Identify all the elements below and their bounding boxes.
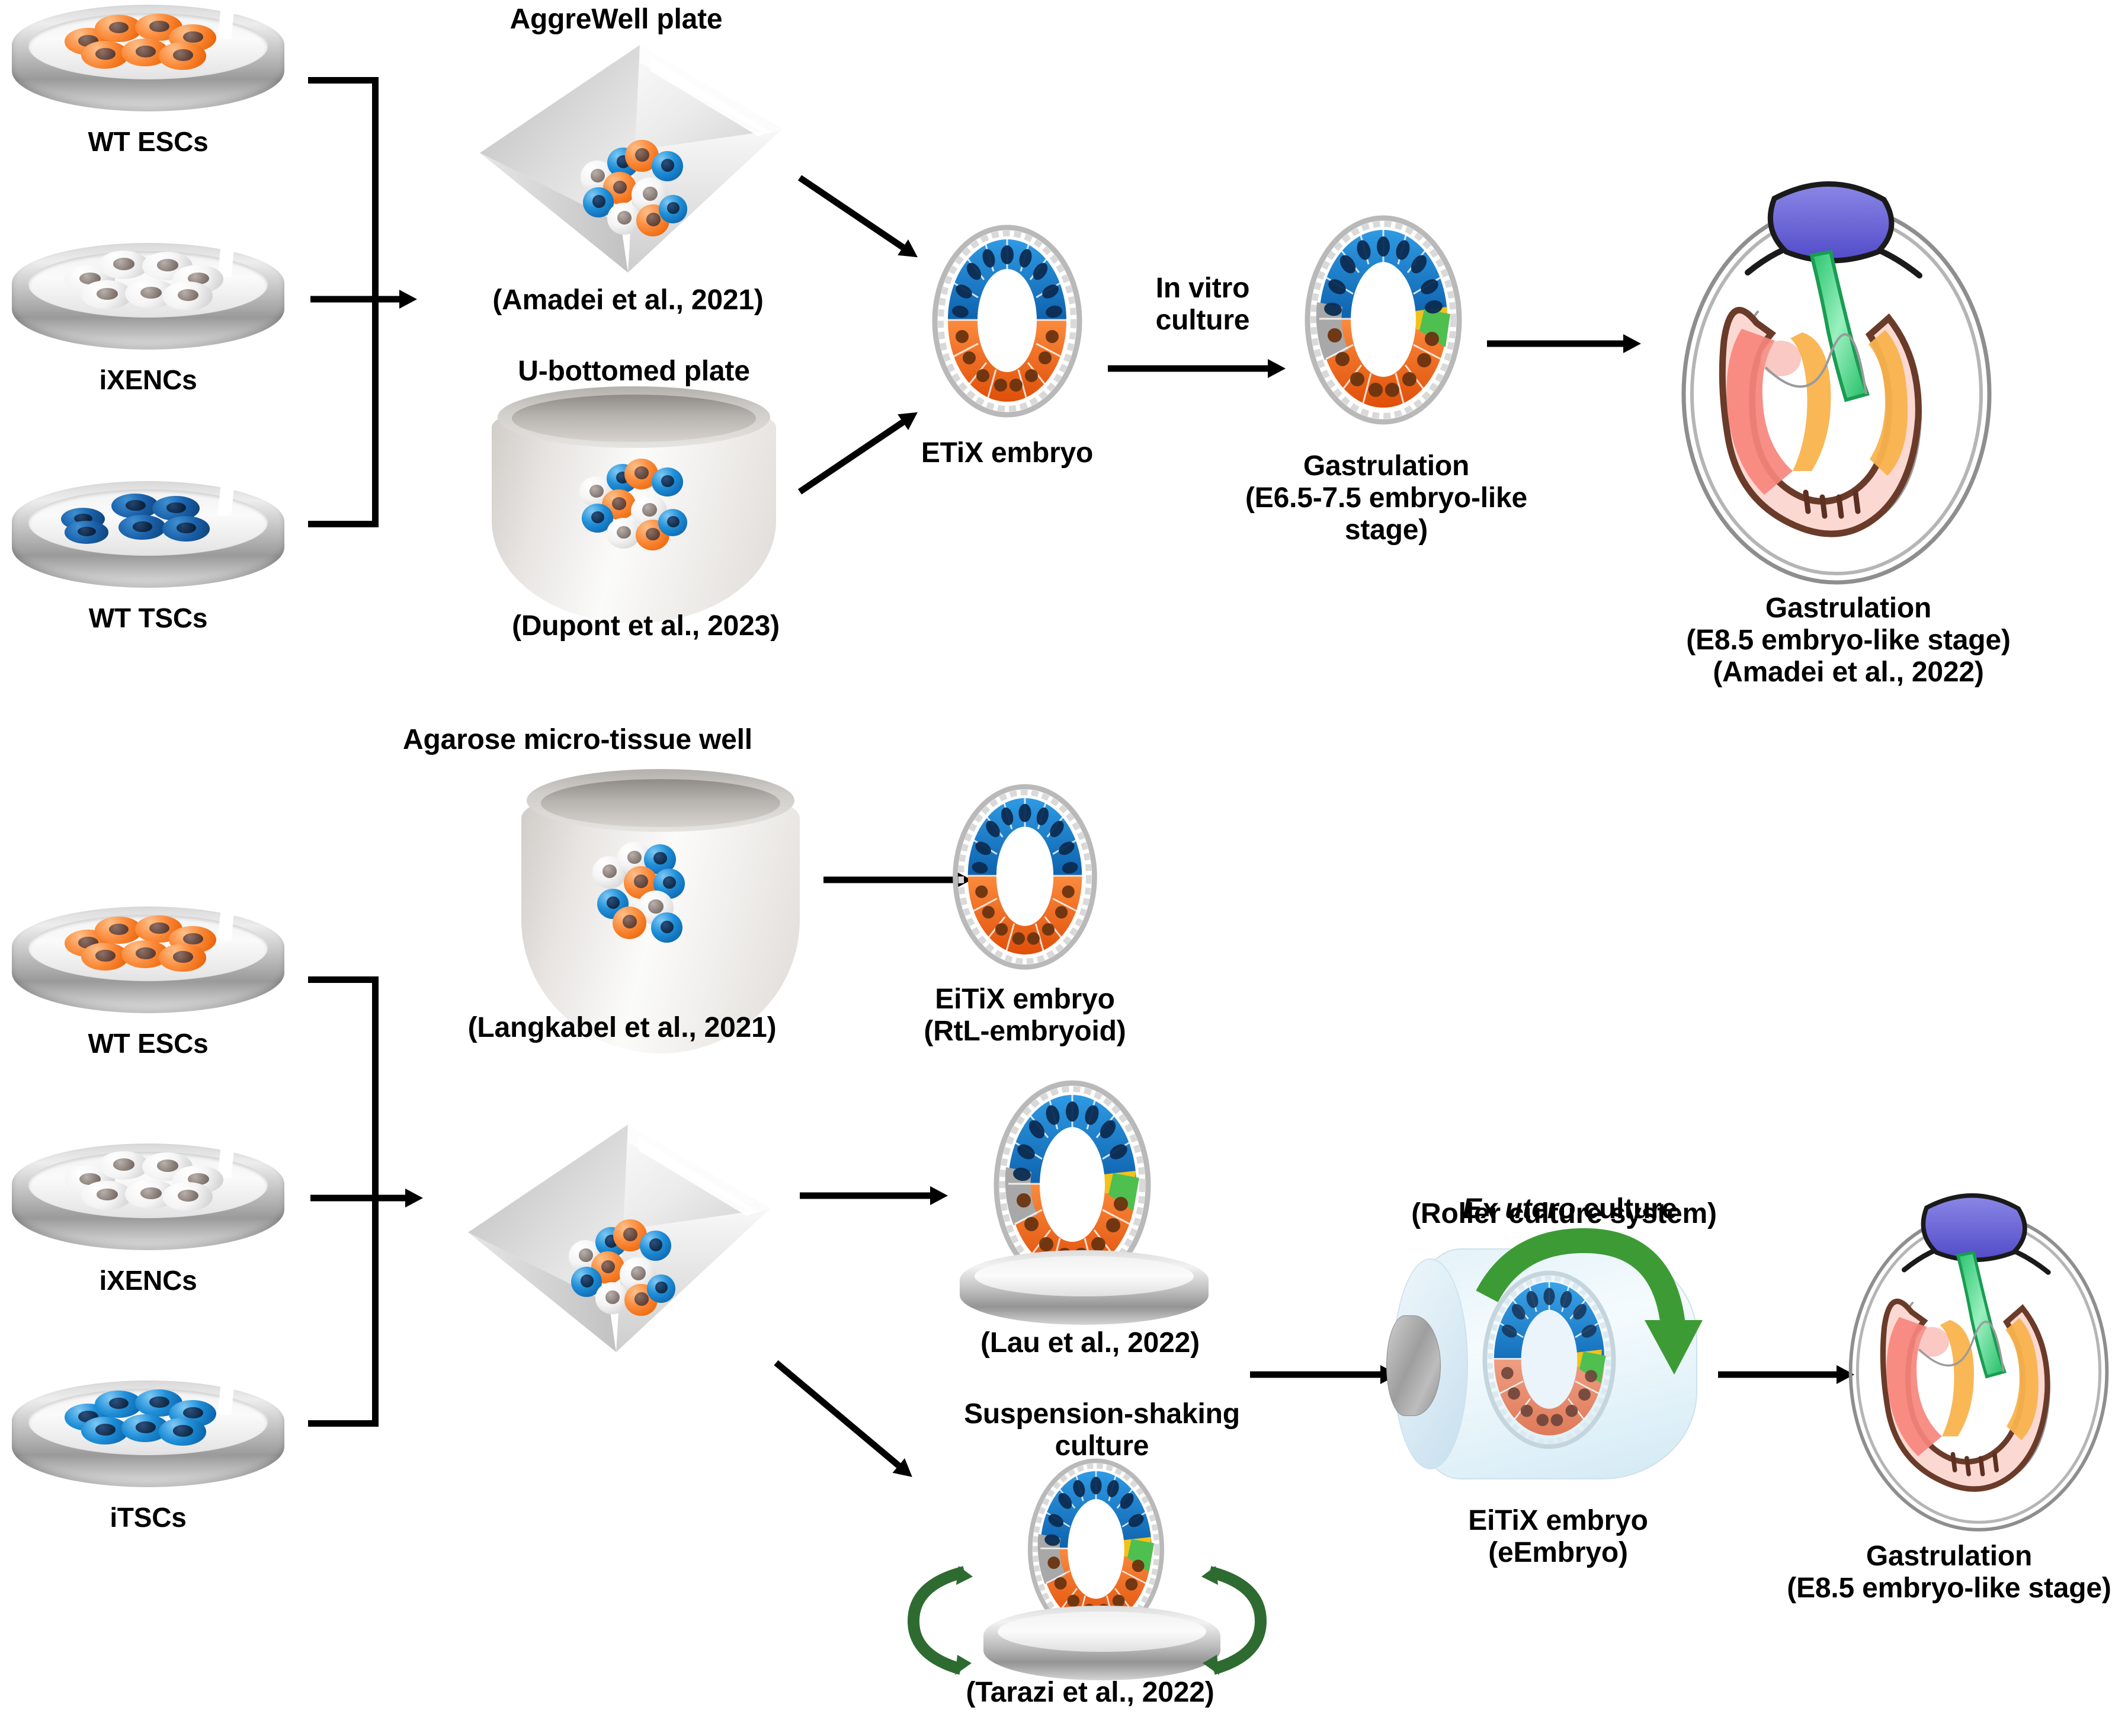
cell-colony-xen: [61, 1150, 230, 1210]
label-eitix-eembryo: EiTiX embryo (eEmbryo): [1392, 1505, 1724, 1569]
aggrewell-plate-top: [462, 34, 794, 283]
label-agarose-micro-tissue-well-title: Agarose micro-tissue well: [403, 724, 829, 756]
culture-dish-lau: [960, 1250, 1209, 1325]
cell-colony-tsc: [61, 488, 230, 547]
e85-embryo-illustration: [1653, 163, 2020, 590]
cell-aggregate-u-bottom: [579, 459, 692, 549]
label-wt-escs-bottom: WT ESCs: [12, 1029, 284, 1059]
cell-colony-esc: [61, 913, 230, 973]
cell-aggregate-agarose: [592, 840, 705, 941]
label-itscs-bottom: iTSCs: [12, 1503, 284, 1533]
embryo-ring: [927, 220, 1087, 422]
bottle-plug-icon: [1386, 1315, 1441, 1416]
roller-rotation-arrow-icon: [1446, 1225, 1718, 1421]
cell-aggregate-top: [581, 140, 692, 235]
label-gastrulation-e65: Gastrulation (E6.5-7.5 embryo-like stage…: [1209, 450, 1564, 546]
label-in-vitro-culture: In vitro culture: [1102, 273, 1303, 337]
cell-colony-itsc: [61, 1387, 230, 1447]
e85-embryo-illustration: [1825, 1176, 2128, 1538]
label-ixencs-top: iXENCs: [12, 365, 284, 396]
rotation-arrow-right-icon: [1185, 1561, 1280, 1680]
dish-wt-tscs-top: [12, 481, 284, 588]
aggrewell-plate-bottom: [450, 1114, 782, 1363]
lau-embryo-on-dish: [960, 1072, 1220, 1357]
embryo-ring-gastrulating: [1297, 207, 1469, 433]
arrow-aggrewell-to-tarazi: [776, 1363, 912, 1477]
label-wt-tscs-top: WT TSCs: [12, 603, 284, 634]
etix-embryo-illustration: [927, 220, 1087, 422]
embryo-ring: [948, 776, 1102, 978]
well-mouth-inner: [512, 395, 757, 442]
citation-dupont-2023: (Dupont et al., 2023): [468, 610, 823, 642]
dish-wt-escs-bottom: [12, 907, 284, 1013]
label-gastrulation-e85-bottom: Gastrulation (E8.5 embryo-like stage): [1777, 1540, 2121, 1604]
label-u-bottomed-plate-title: U-bottomed plate: [468, 355, 800, 387]
gastrulation-e85-embryo-bottom: [1825, 1176, 2128, 1538]
citation-langkabel-2021: (Langkabel et al., 2021): [415, 1012, 829, 1044]
roller-culture-bottle: [1386, 1238, 1718, 1487]
label-wt-escs-top: WT ESCs: [12, 127, 284, 158]
citation-tarazi-2022: (Tarazi et al., 2022): [912, 1677, 1268, 1709]
arrow-aggrewell-to-etix: [800, 178, 918, 257]
dish-itscs-bottom: [12, 1381, 284, 1487]
label-aggrewell-plate-title: AggreWell plate: [450, 4, 782, 36]
citation-amadei-2021: (Amadei et al., 2021): [450, 284, 806, 316]
dish-ixencs-bottom: [12, 1144, 284, 1250]
gastrulation-e85-embryo-top: [1653, 163, 2020, 590]
gastrulation-e65-embryo-illustration: [1297, 207, 1469, 433]
label-eitix-rtl-embryoid: EiTiX embryo (RtL-embryoid): [877, 984, 1173, 1048]
label-etix-embryo: ETiX embryo: [877, 437, 1137, 469]
dish-ixencs-top: [12, 243, 284, 350]
dish-wt-escs-top: [12, 5, 284, 111]
cell-colony-esc: [61, 11, 230, 71]
eitix-rtl-embryoid-illustration: [948, 776, 1102, 978]
cell-colony-xen: [61, 249, 230, 309]
well-mouth-inner: [541, 779, 780, 828]
cell-aggregate-bottom: [569, 1219, 680, 1314]
rotation-arrow-left-icon: [895, 1561, 989, 1680]
label-ixencs-bottom: iXENCs: [12, 1266, 284, 1296]
bracket-bottom-sources: [308, 976, 379, 1427]
label-gastrulation-e85-top: Gastrulation (E8.5 embryo-like stage) (A…: [1611, 592, 2085, 688]
tarazi-embryo-on-shaker: [948, 1452, 1256, 1700]
u-bottom-well-top: [492, 386, 776, 623]
agarose-micro-tissue-well: [521, 769, 800, 1053]
citation-lau-2022: (Lau et al., 2022): [924, 1327, 1256, 1359]
